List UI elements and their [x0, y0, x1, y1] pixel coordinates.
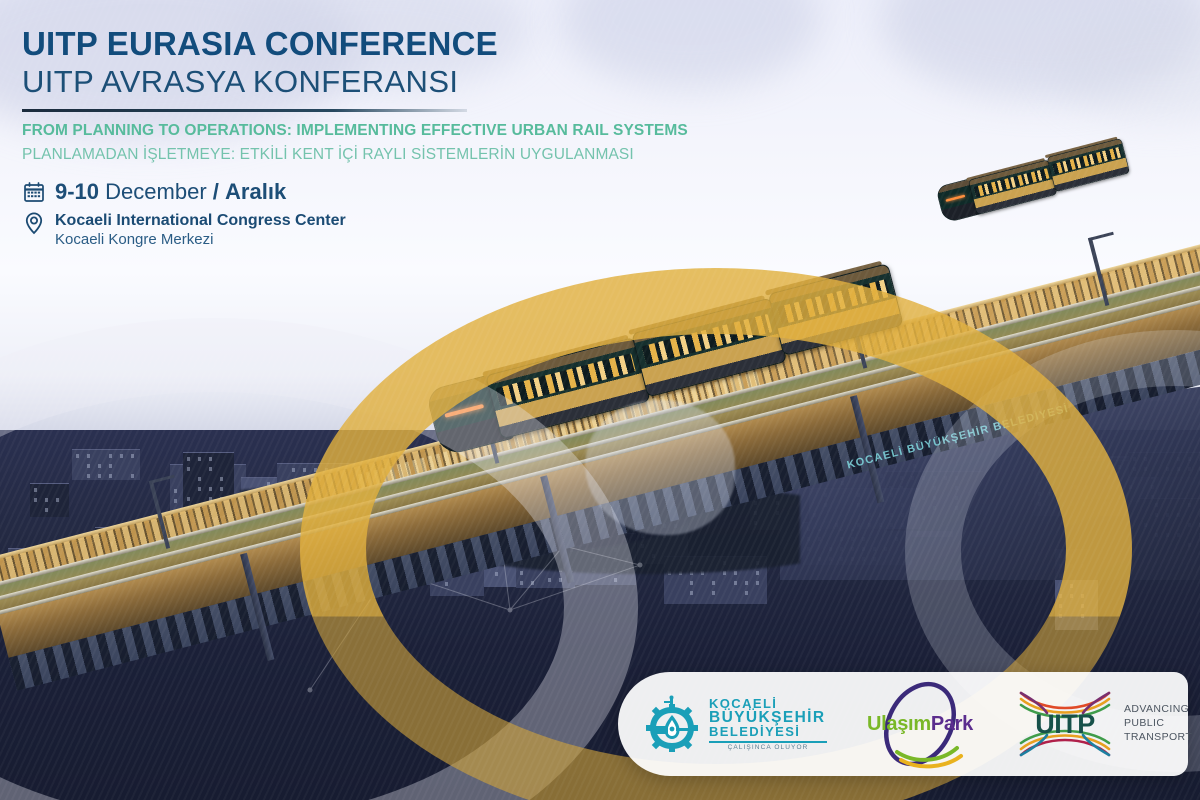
- kocaeli-line-3: BELEDİYESİ: [709, 725, 827, 738]
- header-block: UITP EURASIA CONFERENCE UITP AVRASYA KON…: [22, 26, 922, 250]
- venue-name-tr: Kocaeli Kongre Merkezi: [55, 231, 346, 250]
- kocaeli-underline: [709, 741, 827, 743]
- date-row: 9-10 December / Aralık: [22, 180, 922, 204]
- uitp-tag-line-3: TRANSPORT: [1124, 731, 1192, 745]
- uitp-tagline: ADVANCING PUBLIC TRANSPORT: [1124, 703, 1192, 745]
- conference-poster: KOCAELİ BÜYÜKŞEHİR BELEDİYESİ: [0, 0, 1200, 800]
- kocaeli-line-1: KOCAELİ: [709, 697, 827, 710]
- venue-text: Kocaeli International Congress Center Ko…: [55, 211, 346, 250]
- location-pin-icon: [22, 211, 46, 235]
- calendar-icon: [22, 180, 46, 204]
- subtitle-tr: PLANLAMADAN İŞLETMEYE: ETKİLİ KENT İÇİ R…: [22, 145, 922, 166]
- kocaeli-line-2: BÜYÜKŞEHİR: [709, 710, 827, 726]
- date-month-en: December: [105, 179, 206, 204]
- subtitle-en: FROM PLANNING TO OPERATIONS: IMPLEMENTIN…: [22, 121, 922, 142]
- ulasimpark-purple-text: Park: [931, 713, 973, 735]
- logo-kocaeli-municipality[interactable]: KOCAELİ BÜYÜKŞEHİR BELEDİYESİ ÇALIŞINCA …: [618, 672, 827, 776]
- kocaeli-wordmark: KOCAELİ BÜYÜKŞEHİR BELEDİYESİ ÇALIŞINCA …: [709, 697, 827, 752]
- uitp-tag-line-1: ADVANCING: [1124, 703, 1192, 717]
- logo-uitp[interactable]: UITP ADVANCING PUBLIC TRANSPORT: [1017, 672, 1200, 776]
- date-day: 9-10: [55, 179, 99, 204]
- event-meta: 9-10 December / Aralık Kocaeli Internati…: [22, 180, 922, 250]
- kocaeli-slogan: ÇALIŞINCA OLUYOR: [709, 745, 827, 752]
- ulasimpark-green-text: Ulaşım: [867, 713, 931, 735]
- sponsor-logo-bar: KOCAELİ BÜYÜKŞEHİR BELEDİYESİ ÇALIŞINCA …: [618, 672, 1188, 776]
- ulasimpark-wordmark: UlaşımPark: [867, 713, 973, 736]
- date-month-tr: Aralık: [225, 179, 286, 204]
- logo-ulasimpark[interactable]: UlaşımPark: [845, 672, 995, 776]
- uitp-wordmark: UITP: [1035, 709, 1095, 740]
- title-divider: [22, 109, 467, 112]
- page-title-tr: UITP AVRASYA KONFERANSI: [22, 65, 922, 100]
- event-date: 9-10 December / Aralık: [55, 180, 286, 204]
- uitp-tag-line-2: PUBLIC: [1124, 717, 1192, 731]
- kocaeli-emblem-icon: [644, 695, 700, 753]
- venue-row: Kocaeli International Congress Center Ko…: [22, 211, 922, 250]
- page-title-en: UITP EURASIA CONFERENCE: [22, 26, 922, 63]
- venue-name-en: Kocaeli International Congress Center: [55, 212, 346, 229]
